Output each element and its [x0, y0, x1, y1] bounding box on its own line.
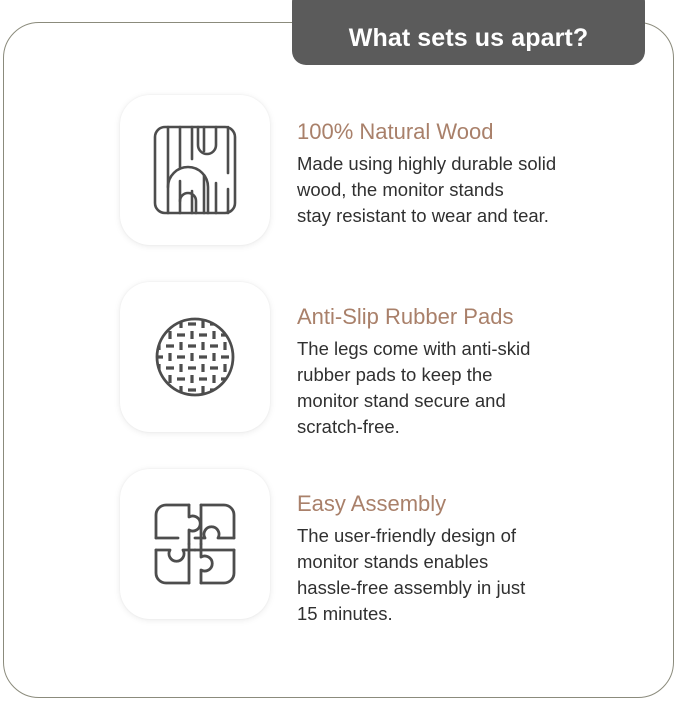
feature-title: Anti-Slip Rubber Pads — [297, 303, 679, 331]
feature-icon-tile — [120, 282, 270, 432]
feature-icon-tile — [120, 469, 270, 619]
feature-description: The user-friendly design of monitor stan… — [297, 523, 627, 627]
header-badge: What sets us apart? — [292, 0, 645, 65]
feature-icon-tile — [120, 95, 270, 245]
feature-title: Easy Assembly — [297, 490, 679, 518]
feature-description: The legs come with anti-skid rubber pads… — [297, 336, 627, 440]
feature-text-block: Anti-Slip Rubber Pads The legs come with… — [270, 282, 679, 440]
feature-text-block: 100% Natural Wood Made using highly dura… — [270, 95, 679, 229]
wood-grain-icon — [149, 121, 241, 219]
feature-title: 100% Natural Wood — [297, 118, 679, 146]
feature-item: Easy Assembly The user-friendly design o… — [0, 469, 679, 656]
puzzle-pieces-icon — [148, 497, 242, 591]
feature-item: 100% Natural Wood Made using highly dura… — [0, 95, 679, 282]
feature-highlights-panel: What sets us apart? — [0, 0, 679, 702]
feature-item: Anti-Slip Rubber Pads The legs come with… — [0, 282, 679, 469]
feature-description: Made using highly durable solid wood, th… — [297, 151, 627, 229]
feature-text-block: Easy Assembly The user-friendly design o… — [270, 469, 679, 627]
rubber-pad-weave-icon — [148, 310, 242, 404]
feature-list: 100% Natural Wood Made using highly dura… — [0, 95, 679, 656]
header-badge-label: What sets us apart? — [349, 26, 588, 51]
